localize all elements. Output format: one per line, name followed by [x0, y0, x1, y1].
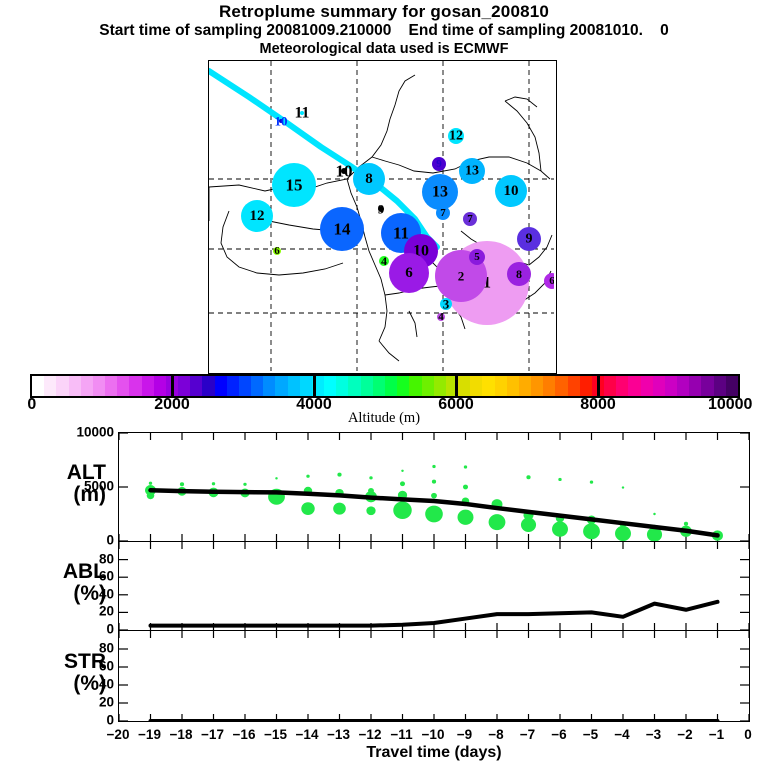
panel-alt[interactable] — [118, 432, 750, 542]
colorbar-swatch — [628, 376, 640, 396]
alt-scatter-blob — [653, 513, 656, 515]
alt-scatter-blob — [301, 502, 314, 515]
alt-scatter-blob — [489, 514, 506, 530]
colorbar-swatch — [300, 376, 312, 396]
colorbar-swatch — [336, 376, 348, 396]
y-tick-label: 0 — [44, 622, 114, 637]
map-centroid[interactable]: 5 — [469, 249, 485, 265]
x-tick-label: −4 — [614, 727, 629, 742]
colorbar-swatch — [470, 376, 482, 396]
colorbar-swatch — [373, 376, 385, 396]
map-centroid[interactable]: 13 — [459, 158, 485, 184]
alt-scatter-blob — [431, 493, 437, 499]
alt-scatter-blob — [212, 482, 215, 485]
colorbar-swatch — [239, 376, 251, 396]
centroid-label: 13 — [432, 184, 448, 201]
alt-scatter-blob — [526, 475, 530, 479]
colorbar-swatch — [178, 376, 190, 396]
x-tick-label: −19 — [138, 727, 161, 742]
x-tick-label: −10 — [422, 727, 445, 742]
colorbar-divider — [313, 374, 316, 398]
centroid-label: 11 — [294, 105, 309, 122]
alt-scatter-blob — [583, 523, 600, 539]
map-centroid[interactable]: 4 — [379, 254, 389, 268]
x-tick-label: −14 — [296, 727, 319, 742]
colorbar-swatch — [701, 376, 713, 396]
map-centroid[interactable]: 6 — [544, 273, 554, 289]
colorbar-swatch — [409, 376, 421, 396]
centroid-label: 5 — [474, 251, 480, 263]
colorbar-divider — [171, 374, 174, 398]
colorbar-swatch — [93, 376, 105, 396]
panel-abl[interactable] — [118, 541, 750, 631]
colorbar-swatch — [215, 376, 227, 396]
y-tick-label: 80 — [44, 551, 114, 566]
alt-scatter-blob — [464, 465, 467, 468]
alt-scatter-blob — [400, 481, 405, 486]
header-block: Retroplume summary for gosan_200810 Star… — [0, 2, 768, 58]
map-centroid[interactable]: 8 — [353, 163, 385, 195]
x-tick-label: 0 — [744, 727, 752, 742]
colorbar-swatch — [117, 376, 129, 396]
centroid-label: 12 — [250, 208, 265, 224]
map-centroid[interactable]: 14 — [320, 207, 364, 251]
alt-scatter-blob — [558, 478, 561, 481]
map-centroid[interactable]: 15 — [272, 163, 316, 207]
colorbar-swatch — [422, 376, 434, 396]
y-tick-label: 80 — [44, 641, 114, 656]
alt-scatter-blob — [147, 492, 155, 499]
centroid-label: 10 — [336, 162, 353, 181]
map-centroid[interactable]: 9 — [432, 157, 446, 171]
panel-row-label-alt: ALT(m) — [6, 462, 106, 506]
map-centroid[interactable]: 9 — [378, 202, 385, 217]
y-tick-label: 20 — [44, 695, 114, 710]
map-centroid[interactable]: 7 — [436, 206, 450, 220]
map-canvas: 1110151261410891291313107111071046951234… — [209, 61, 554, 371]
colorbar-swatch — [44, 376, 56, 396]
colorbar-swatch — [555, 376, 567, 396]
alt-plot — [119, 433, 749, 541]
colorbar-swatch — [677, 376, 689, 396]
alt-scatter-blob — [552, 522, 568, 537]
centroid-label: 6 — [549, 275, 554, 287]
panel-label-line2: (%) — [6, 673, 106, 695]
colorbar-swatch — [263, 376, 275, 396]
centroid-label: 4 — [438, 311, 444, 323]
centroid-label: 11 — [393, 224, 409, 243]
centroid-label: 3 — [443, 297, 450, 312]
x-tick-label: −8 — [488, 727, 503, 742]
centroid-label: 8 — [365, 171, 373, 187]
colorbar-swatch — [714, 376, 726, 396]
y-tick-label: 60 — [44, 659, 114, 674]
centroid-label: 9 — [526, 232, 533, 247]
centroid-label: 4 — [381, 254, 387, 268]
str-plot — [119, 631, 749, 721]
colorbar-swatch — [531, 376, 543, 396]
x-tick-label: −11 — [390, 727, 412, 742]
panel-row-label-abl: ABL(%) — [6, 561, 106, 605]
x-tick-label: −17 — [201, 727, 224, 742]
alt-scatter-blob — [401, 470, 404, 472]
x-tick-label: −12 — [359, 727, 382, 742]
map-centroid[interactable]: 8 — [507, 262, 531, 286]
centroid-markers: 1110151261410891291313107111071046951234… — [241, 105, 554, 326]
map-centroid[interactable]: 10 — [275, 114, 288, 129]
colorbar-swatch — [519, 376, 531, 396]
alt-scatter-blob — [393, 501, 411, 519]
x-tick-label: −20 — [107, 727, 130, 742]
centroid-label: 14 — [334, 220, 352, 239]
alt-scatter-blob — [333, 503, 346, 515]
panel-str[interactable] — [118, 630, 750, 722]
y-tick-label: 20 — [44, 604, 114, 619]
alt-scatter-blob — [366, 506, 375, 515]
colorbar-swatch — [361, 376, 373, 396]
alt-scatter-blob — [615, 526, 631, 541]
colorbar-swatch — [202, 376, 214, 396]
map-centroid[interactable]: 12 — [241, 200, 273, 232]
colorbar-swatch — [142, 376, 154, 396]
alt-scatter-blob — [369, 476, 372, 479]
alt-scatter-blob — [684, 522, 688, 526]
centroid-label: 6 — [405, 265, 413, 281]
abl-plot — [119, 542, 749, 630]
centroid-label: 10 — [504, 183, 519, 199]
centroid-label: 9 — [436, 158, 442, 170]
sampling-time-line: Start time of sampling 20081009.210000 E… — [0, 21, 768, 40]
x-tick-label: −15 — [264, 727, 287, 742]
colorbar-swatch — [641, 376, 653, 396]
colorbar-swatch — [288, 376, 300, 396]
colorbar-swatch — [653, 376, 665, 396]
colorbar-swatch — [580, 376, 592, 396]
abl-line — [151, 602, 718, 626]
colorbar-swatch — [495, 376, 507, 396]
map-centroid[interactable]: 10 — [495, 175, 527, 207]
x-tick-label: −16 — [233, 727, 256, 742]
alt-scatter-blob — [425, 506, 443, 523]
colorbar-swatch — [275, 376, 287, 396]
alt-scatter-blob — [463, 485, 468, 490]
map-centroid[interactable]: 7 — [463, 212, 477, 226]
centroid-label: 2 — [458, 269, 465, 284]
colorbar-swatch — [324, 376, 336, 396]
x-tick-label: −6 — [551, 727, 566, 742]
alt-scatter-blob — [243, 483, 246, 486]
alt-scatter-blob — [337, 473, 341, 477]
colorbar-swatch — [507, 376, 519, 396]
page-title: Retroplume summary for gosan_200810 — [0, 2, 768, 21]
xaxis-title: Travel time (days) — [118, 744, 750, 762]
colorbar-swatch — [251, 376, 263, 396]
x-tick-label: −2 — [677, 727, 692, 742]
y-tick-label: 60 — [44, 569, 114, 584]
x-tick-label: −7 — [520, 727, 535, 742]
alt-scatter-blob — [458, 510, 474, 525]
alt-scatter-blob — [275, 477, 278, 479]
met-data-line: Meteorological data used is ECMWF — [0, 40, 768, 58]
map-centroid[interactable]: 10 — [336, 162, 353, 181]
panel-label-line2: (m) — [6, 484, 106, 506]
x-tick-label: −1 — [709, 727, 724, 742]
colorbar-swatch — [665, 376, 677, 396]
centroid-label: 8 — [516, 267, 522, 281]
x-tick-label: −9 — [457, 727, 472, 742]
colorbar-swatch — [154, 376, 166, 396]
colorbar-swatch — [190, 376, 202, 396]
colorbar-swatch — [348, 376, 360, 396]
colorbar-swatch — [56, 376, 68, 396]
colorbar-swatch — [227, 376, 239, 396]
alt-scatter-blob — [180, 482, 184, 486]
alt-scatter-blob — [306, 475, 309, 478]
colorbar-swatch — [69, 376, 81, 396]
colorbar-swatch — [482, 376, 494, 396]
alt-scatter-blob — [149, 482, 152, 485]
retroplume-map[interactable]: 1110151261410891291313107111071046951234… — [208, 60, 557, 374]
y-tick-label: 5000 — [44, 479, 114, 494]
colorbar-swatch — [81, 376, 93, 396]
alt-scatter-blob — [432, 465, 435, 468]
colorbar-swatch — [543, 376, 555, 396]
centroid-label: 7 — [440, 207, 446, 219]
panel-label-line2: (%) — [6, 583, 106, 605]
y-tick-label: 0 — [44, 713, 114, 728]
alt-scatter-blob — [368, 488, 374, 494]
map-centroid[interactable]: 11 — [294, 105, 309, 122]
centroid-label: 13 — [465, 164, 479, 179]
panel-label-line1: ALT — [6, 462, 106, 484]
centroid-label: 9 — [378, 202, 385, 217]
y-tick-label: 40 — [44, 586, 114, 601]
map-centroid[interactable]: 9 — [517, 227, 541, 251]
colorbar-title: Altitude (m) — [0, 410, 768, 427]
colorbar-swatch — [397, 376, 409, 396]
colorbar-swatch — [434, 376, 446, 396]
colorbar-divider — [455, 374, 458, 398]
y-tick-label: 0 — [44, 533, 114, 548]
alt-scatter-blob — [432, 480, 436, 484]
centroid-label: 10 — [275, 114, 288, 129]
map-centroid[interactable]: 13 — [422, 174, 458, 210]
altitude-colorbar[interactable] — [30, 374, 740, 398]
colorbar-swatch — [616, 376, 628, 396]
colorbar-swatch — [458, 376, 470, 396]
x-tick-label: −5 — [583, 727, 598, 742]
colorbar-swatch — [689, 376, 701, 396]
centroid-label: 12 — [449, 129, 463, 144]
colorbar-swatch — [568, 376, 580, 396]
colorbar-swatch — [726, 376, 738, 396]
alt-scatter-blob — [590, 481, 593, 484]
x-tick-label: −13 — [327, 727, 350, 742]
map-centroid[interactable]: 12 — [448, 128, 464, 144]
centroid-label: 15 — [286, 176, 303, 195]
map-centroid[interactable]: 6 — [273, 245, 281, 257]
colorbar-swatch — [105, 376, 117, 396]
centroid-label: 7 — [467, 213, 473, 225]
colorbar-swatch — [385, 376, 397, 396]
colorbar-divider — [597, 374, 600, 398]
panel-label-line1: ABL — [6, 561, 106, 583]
colorbar-swatch — [604, 376, 616, 396]
map-centroid[interactable]: 6 — [389, 253, 429, 293]
alt-scatter-blob — [622, 486, 625, 488]
y-tick-label: 40 — [44, 677, 114, 692]
x-tick-label: −18 — [170, 727, 193, 742]
colorbar-swatch — [32, 376, 44, 396]
panel-label-line1: STR — [6, 651, 106, 673]
centroid-label: 6 — [274, 245, 280, 257]
panel-row-label-str: STR(%) — [6, 651, 106, 695]
colorbar-swatch — [129, 376, 141, 396]
x-tick-label: −3 — [646, 727, 661, 742]
timeseries-panels — [118, 432, 750, 722]
